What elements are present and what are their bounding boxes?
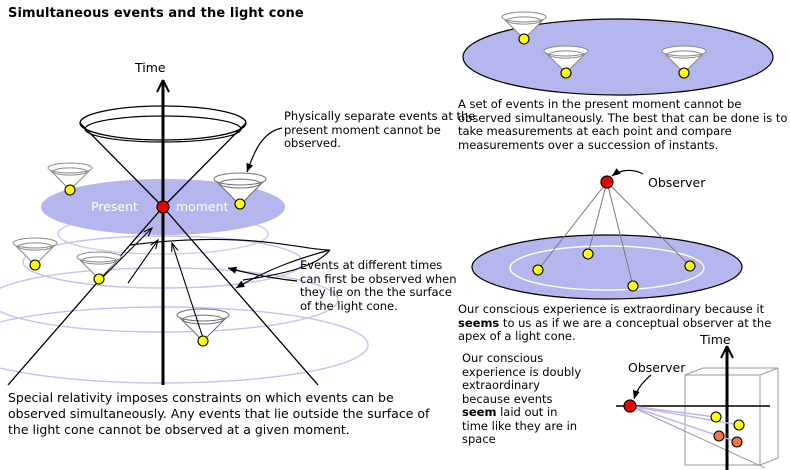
- time-axis-label-bottom-right: Time: [700, 332, 731, 347]
- note-conscious-experience: Our conscious experience is extraordinar…: [458, 303, 788, 344]
- observer-label-bottom: Observer: [628, 360, 685, 375]
- note-bottom-left: Special relativity imposes constraints o…: [8, 390, 448, 438]
- note-conscious-pre: Our conscious experience is extraordinar…: [458, 302, 764, 316]
- note-set-of-events: A set of events in the present moment ca…: [458, 98, 788, 152]
- note-events-different-times: Events at different times can first be o…: [300, 259, 460, 313]
- note-doubly-extraordinary: Our conscious experience is doubly extra…: [462, 352, 582, 447]
- present-moment-label-left: Present: [91, 199, 138, 214]
- present-moment-label-right: moment: [176, 199, 229, 214]
- note-separate-events: Physically separate events at the presen…: [284, 110, 484, 151]
- time-axis-label-main: Time: [135, 60, 166, 75]
- present-moment-label: Present moment: [91, 199, 228, 214]
- present-plane-group: [463, 12, 773, 95]
- note-doubly-pre: Our conscious experience is doubly extra…: [462, 351, 581, 406]
- note-doubly-emphasis: seem: [462, 405, 496, 419]
- diagram-page: Simultaneous events and the light cone: [0, 0, 790, 470]
- page-title: Simultaneous events and the light cone: [8, 6, 304, 21]
- note-conscious-emphasis: seems: [458, 316, 499, 330]
- observer-label-middle: Observer: [648, 175, 705, 190]
